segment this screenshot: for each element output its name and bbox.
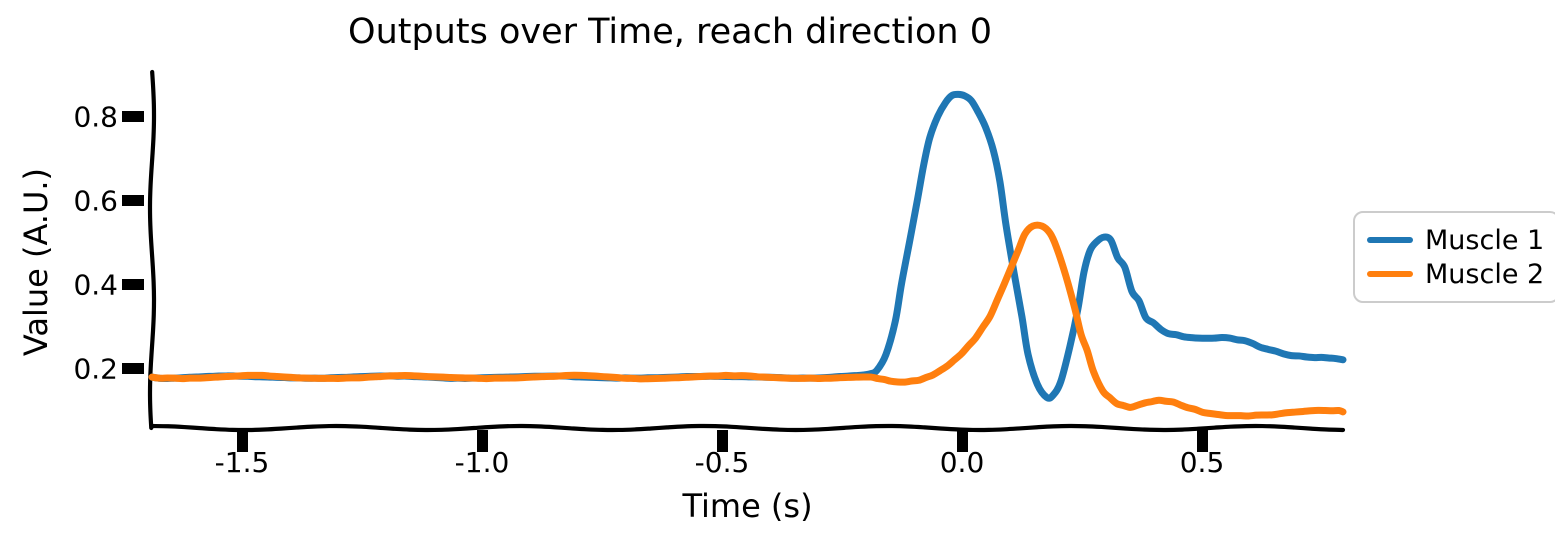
x-tick-mark--0.5 [717, 430, 728, 452]
y-axis-ticks [122, 111, 144, 374]
legend-swatch-muscle-1 [1367, 237, 1413, 243]
legend-item-muscle-2[interactable]: Muscle 2 [1367, 257, 1544, 291]
y-tick-mark-0.8 [122, 111, 144, 122]
x-axis-ticks [237, 430, 1208, 452]
data-series [152, 94, 1343, 416]
legend-label-muscle-1: Muscle 1 [1425, 227, 1544, 254]
x-tick-mark--1.0 [477, 430, 488, 452]
legend: Muscle 1 Muscle 2 [1353, 211, 1555, 303]
legend-swatch-muscle-2 [1367, 271, 1413, 277]
y-tick-mark-0.2 [122, 363, 144, 374]
x-tick-mark--1.5 [237, 430, 248, 452]
chart-figure: Outputs over Time, reach direction 0 Val… [0, 0, 1555, 556]
line-muscle-1 [152, 94, 1343, 398]
x-tick-mark-0.0 [957, 430, 968, 452]
x-tick-mark-0.5 [1197, 430, 1208, 452]
x-axis-spine [152, 426, 1343, 430]
legend-item-muscle-1[interactable]: Muscle 1 [1367, 223, 1544, 257]
y-tick-mark-0.6 [122, 195, 144, 206]
line-muscle-2 [152, 225, 1343, 416]
legend-label-muscle-2: Muscle 2 [1425, 261, 1544, 288]
plot-area [0, 0, 1555, 556]
y-tick-mark-0.4 [122, 279, 144, 290]
